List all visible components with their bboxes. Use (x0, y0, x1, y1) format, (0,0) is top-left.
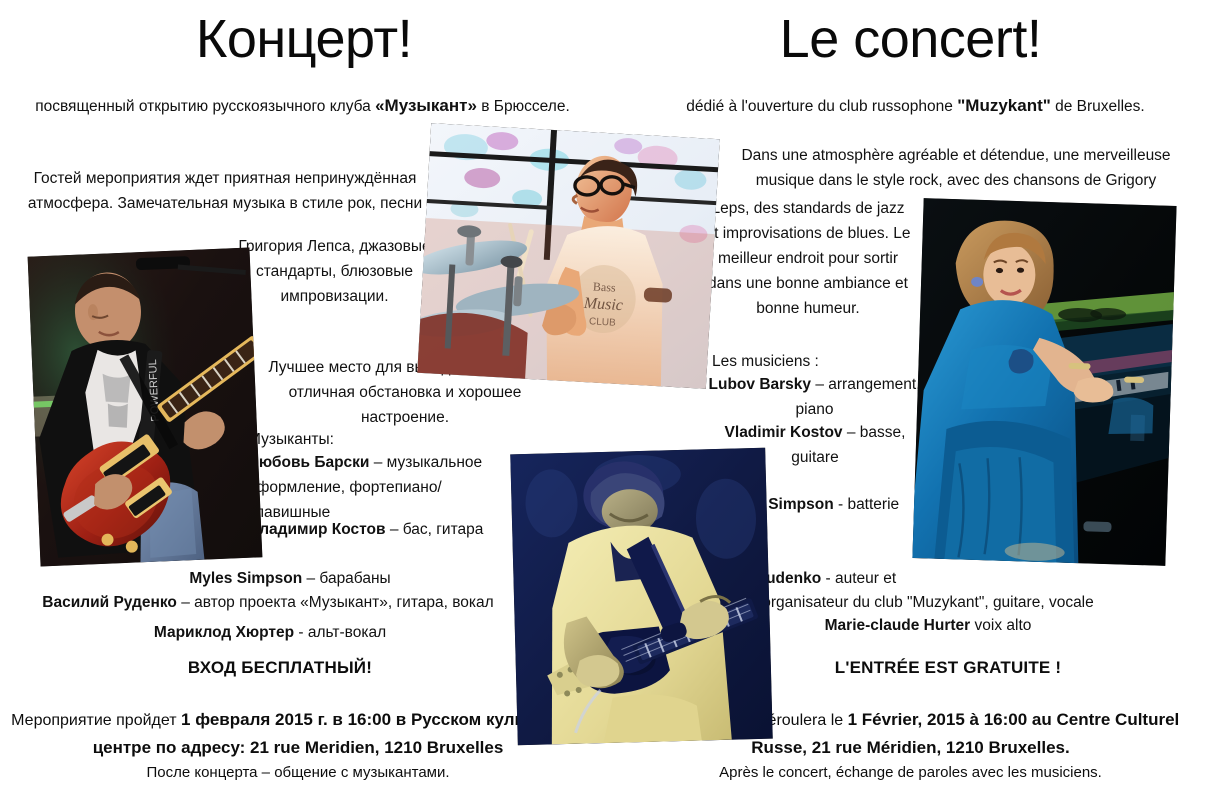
french-free-entry: L'ENTRÉE EST GRATUITE ! (708, 658, 1188, 678)
russian-free-entry: ВХОД БЕСПЛАТНЫЙ! (40, 658, 520, 678)
russian-musician-3-role: – барабаны (302, 570, 390, 587)
page-title-russian: Концерт! (0, 12, 608, 66)
russian-musician-4-role: – автор проекта «Музыкант», гитара, вока… (177, 594, 494, 611)
subtitle-french-lead: dédié à l'ouverture du club russophone (686, 98, 957, 115)
russian-musician-1-name: Любовь Барски (248, 454, 369, 471)
russian-musician-4: Василий Руденко – автор проекта «Музыкан… (8, 590, 528, 615)
russian-musician-3: Myles Simpson – барабаны (40, 566, 540, 591)
russian-event-lead: Мероприятие пройдет (11, 712, 181, 729)
page-title-french: Le concert! (608, 12, 1213, 66)
russian-musicians-heading: Музыканты: (248, 427, 508, 452)
photo-drummer: Bass Music CLUB (417, 123, 720, 389)
russian-musician-2-role: – бас, гитара (386, 521, 484, 538)
svg-text:Music: Music (582, 295, 623, 314)
subtitle-russian-lead: посвященный открытию русскоязычного клуб… (35, 98, 375, 115)
french-musician-6-name: Marie-claude Hurter (825, 617, 971, 634)
french-musician-1-role: – arrangement, piano (796, 376, 921, 418)
svg-text:Bass: Bass (593, 279, 617, 294)
svg-text:CLUB: CLUB (589, 316, 617, 328)
french-musicians-heading: Les musiciens : (712, 349, 932, 374)
french-musician-3-role: - batterie (834, 496, 899, 513)
russian-intro-part2: Григория Лепса, джазовые стандарты, блюз… (232, 234, 437, 309)
photo-guitarist-blue (510, 448, 773, 746)
subtitle-russian: посвященный открытию русскоязычного клуб… (30, 93, 575, 119)
subtitle-french-tail: de Bruxelles. (1051, 98, 1145, 115)
russian-event-details: Мероприятие пройдет 1 февраля 2015 г. в … (8, 706, 588, 761)
french-after-note: Après le concert, échange de paroles ave… (618, 764, 1203, 781)
french-musician-4-role: - auteur et (821, 570, 896, 587)
subtitle-french: dédié à l'ouverture du club russophone "… (628, 93, 1203, 119)
subtitle-french-club: "Muzykant" (957, 96, 1051, 115)
russian-after-note: После концерта – общение с музыкантами. (8, 764, 588, 781)
russian-musician-4-name: Василий Руденко (42, 594, 177, 611)
subtitle-russian-tail: в Брюсселе. (477, 98, 570, 115)
french-musician-1-name: Lubov Barsky (709, 376, 812, 393)
french-musician-6-role: voix alto (970, 617, 1031, 634)
photo-guitarist-red: POWERFUL (28, 247, 263, 566)
russian-musician-5-role: - альт-вокал (294, 624, 386, 641)
russian-musician-1: Любовь Барски – музыкальное оформление, … (248, 450, 510, 525)
french-musician-1: Lubov Barsky – arrangement, piano (692, 372, 937, 422)
photo-pianist (912, 198, 1176, 566)
french-intro-part1: Dans une atmosphère agréable et détendue… (716, 143, 1196, 193)
russian-musician-5: Мариклод Хюртер - альт-вокал (30, 620, 510, 645)
subtitle-russian-club: «Музыкант» (375, 96, 477, 115)
russian-musician-3-name: Myles Simpson (189, 570, 302, 587)
russian-musician-2-name: Владимир Костов (248, 521, 386, 538)
russian-musician-2: Владимир Костов – бас, гитара (248, 517, 498, 542)
russian-intro-part1: Гостей мероприятия ждет приятная неприну… (10, 166, 440, 216)
french-intro-part2: Leps, des standards de jazz et improvisa… (703, 196, 913, 322)
french-musician-2-name: Vladimir Kostov (725, 424, 843, 441)
russian-musician-5-name: Мариклод Хюртер (154, 624, 294, 641)
poster-canvas: Концерт! посвященный открытию русскоязыч… (0, 0, 1213, 798)
